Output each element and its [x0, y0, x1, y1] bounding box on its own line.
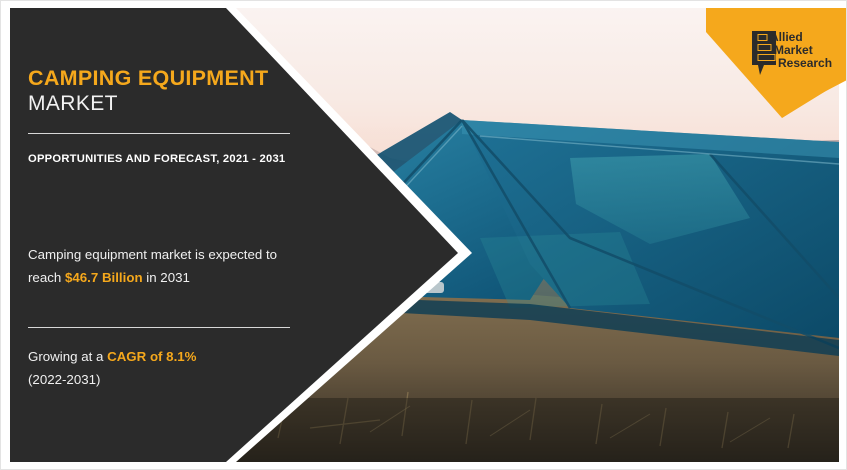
headline-primary: CAMPING EQUIPMENT	[28, 68, 268, 90]
market-size-suffix: in 2031	[143, 270, 190, 285]
cagr-prefix: Growing at a	[28, 349, 107, 364]
headline-secondary: MARKET	[28, 93, 118, 114]
cagr-statement: Growing at a CAGR of 8.1%(2022-2031)	[28, 346, 296, 392]
logo-line-2: Market	[774, 43, 813, 57]
logo-line-1: Allied	[770, 30, 803, 44]
cagr-value: CAGR of 8.1%	[107, 349, 196, 364]
infographic-card: CAMPING EQUIPMENT MARKET OPPORTUNITIES A…	[0, 0, 847, 470]
market-size-statement: Camping equipment market is expected to …	[28, 244, 296, 290]
divider-top	[28, 133, 290, 134]
divider-bottom	[28, 327, 290, 328]
cagr-period: (2022-2031)	[28, 372, 100, 387]
subtitle: OPPORTUNITIES AND FORECAST, 2021 - 2031	[28, 150, 296, 168]
allied-market-research-logo[interactable]: Allied Market Research	[700, 8, 847, 118]
copy-block: CAMPING EQUIPMENT MARKET OPPORTUNITIES A…	[10, 8, 310, 462]
logo-line-3: Research	[778, 56, 832, 70]
market-size-value: $46.7 Billion	[65, 270, 143, 285]
